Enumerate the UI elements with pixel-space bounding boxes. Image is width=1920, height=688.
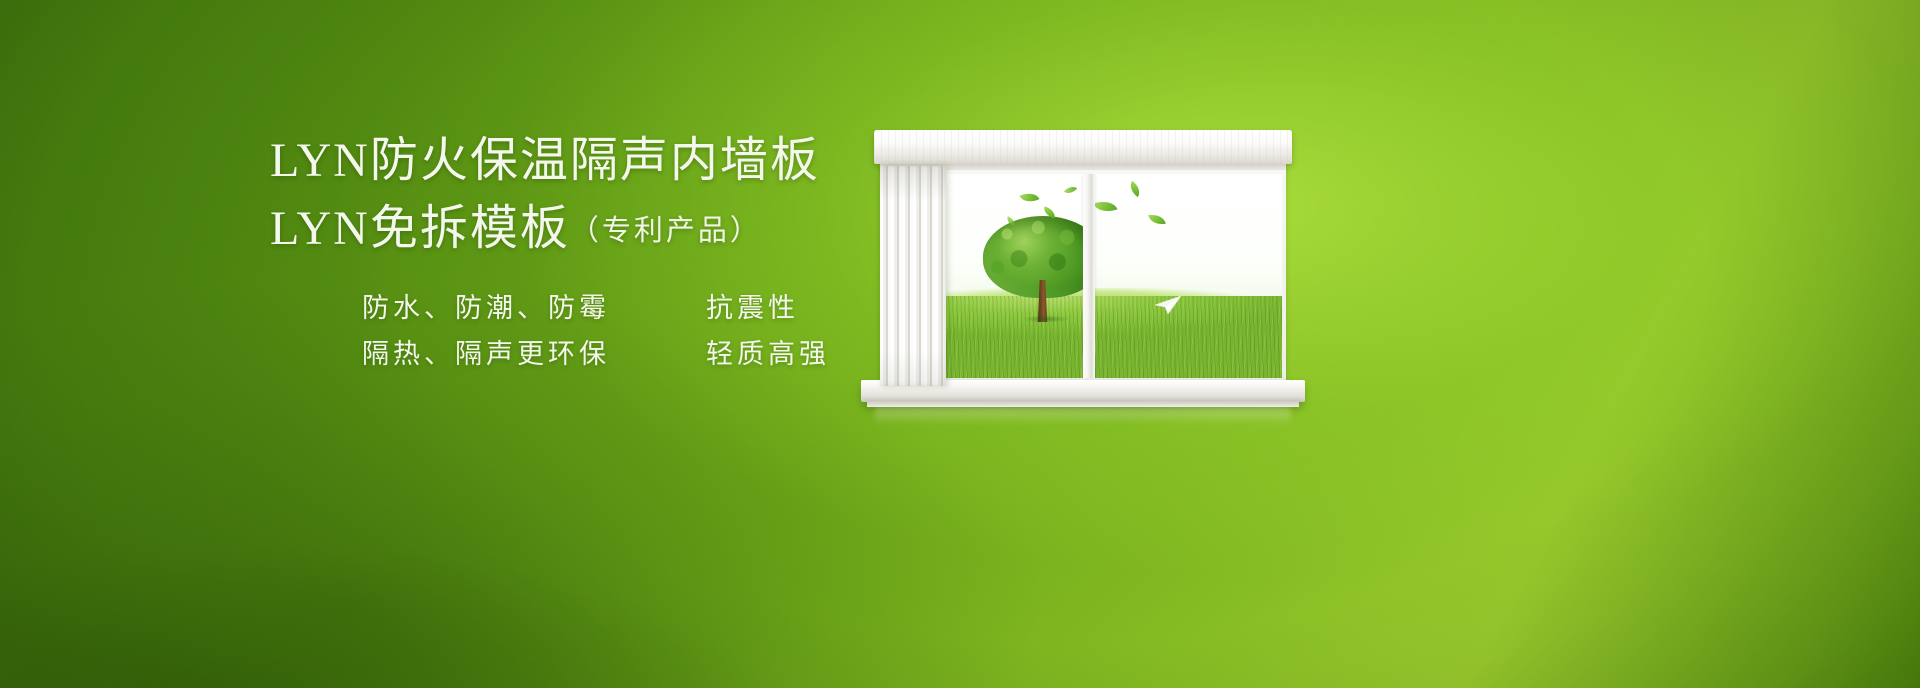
feature-row-1-left: 防水、防潮、防霉	[362, 288, 692, 328]
paper-plane-icon	[1155, 296, 1181, 314]
window-sill-reflection	[875, 407, 1291, 425]
outdoor-scene-right	[1093, 174, 1282, 378]
headline-line-1: LYN防火保温隔声内墙板	[270, 130, 890, 192]
headline-line-2: LYN免拆模板（专利产品）	[270, 198, 890, 262]
tree-ground-shadow	[1015, 314, 1077, 324]
headline-line-2-main: LYN免拆模板	[270, 202, 570, 255]
window-illustration	[855, 112, 1305, 432]
grass-texture	[1093, 296, 1282, 378]
lintel-grain-texture	[874, 130, 1292, 164]
window-sill-lip	[867, 400, 1299, 407]
glass-pane-left	[943, 174, 1086, 378]
feature-row-2-left: 隔热、隔声更环保	[362, 334, 692, 374]
window-mullion	[1083, 174, 1095, 378]
headline-line-2-paren: （专利产品）	[570, 215, 762, 247]
tree-foliage-texture	[983, 216, 1086, 298]
green-tree	[983, 216, 1086, 320]
sky	[1093, 174, 1282, 300]
glass-pane-right	[1093, 174, 1282, 378]
feature-list: 防水、防潮、防霉 抗震性 隔热、隔声更环保 轻质高强	[362, 288, 890, 374]
window-glass-area	[943, 174, 1282, 378]
outdoor-scene-left	[943, 174, 1086, 378]
blinds-shading	[880, 166, 946, 386]
banner-text-block: LYN防火保温隔声内墙板 LYN免拆模板（专利产品） 防水、防潮、防霉 抗震性 …	[270, 130, 890, 374]
vertical-blinds	[880, 166, 946, 386]
window-lintel	[874, 130, 1292, 164]
promo-banner: LYN防火保温隔声内墙板 LYN免拆模板（专利产品） 防水、防潮、防霉 抗震性 …	[0, 0, 1920, 688]
tree-crown	[983, 216, 1086, 298]
